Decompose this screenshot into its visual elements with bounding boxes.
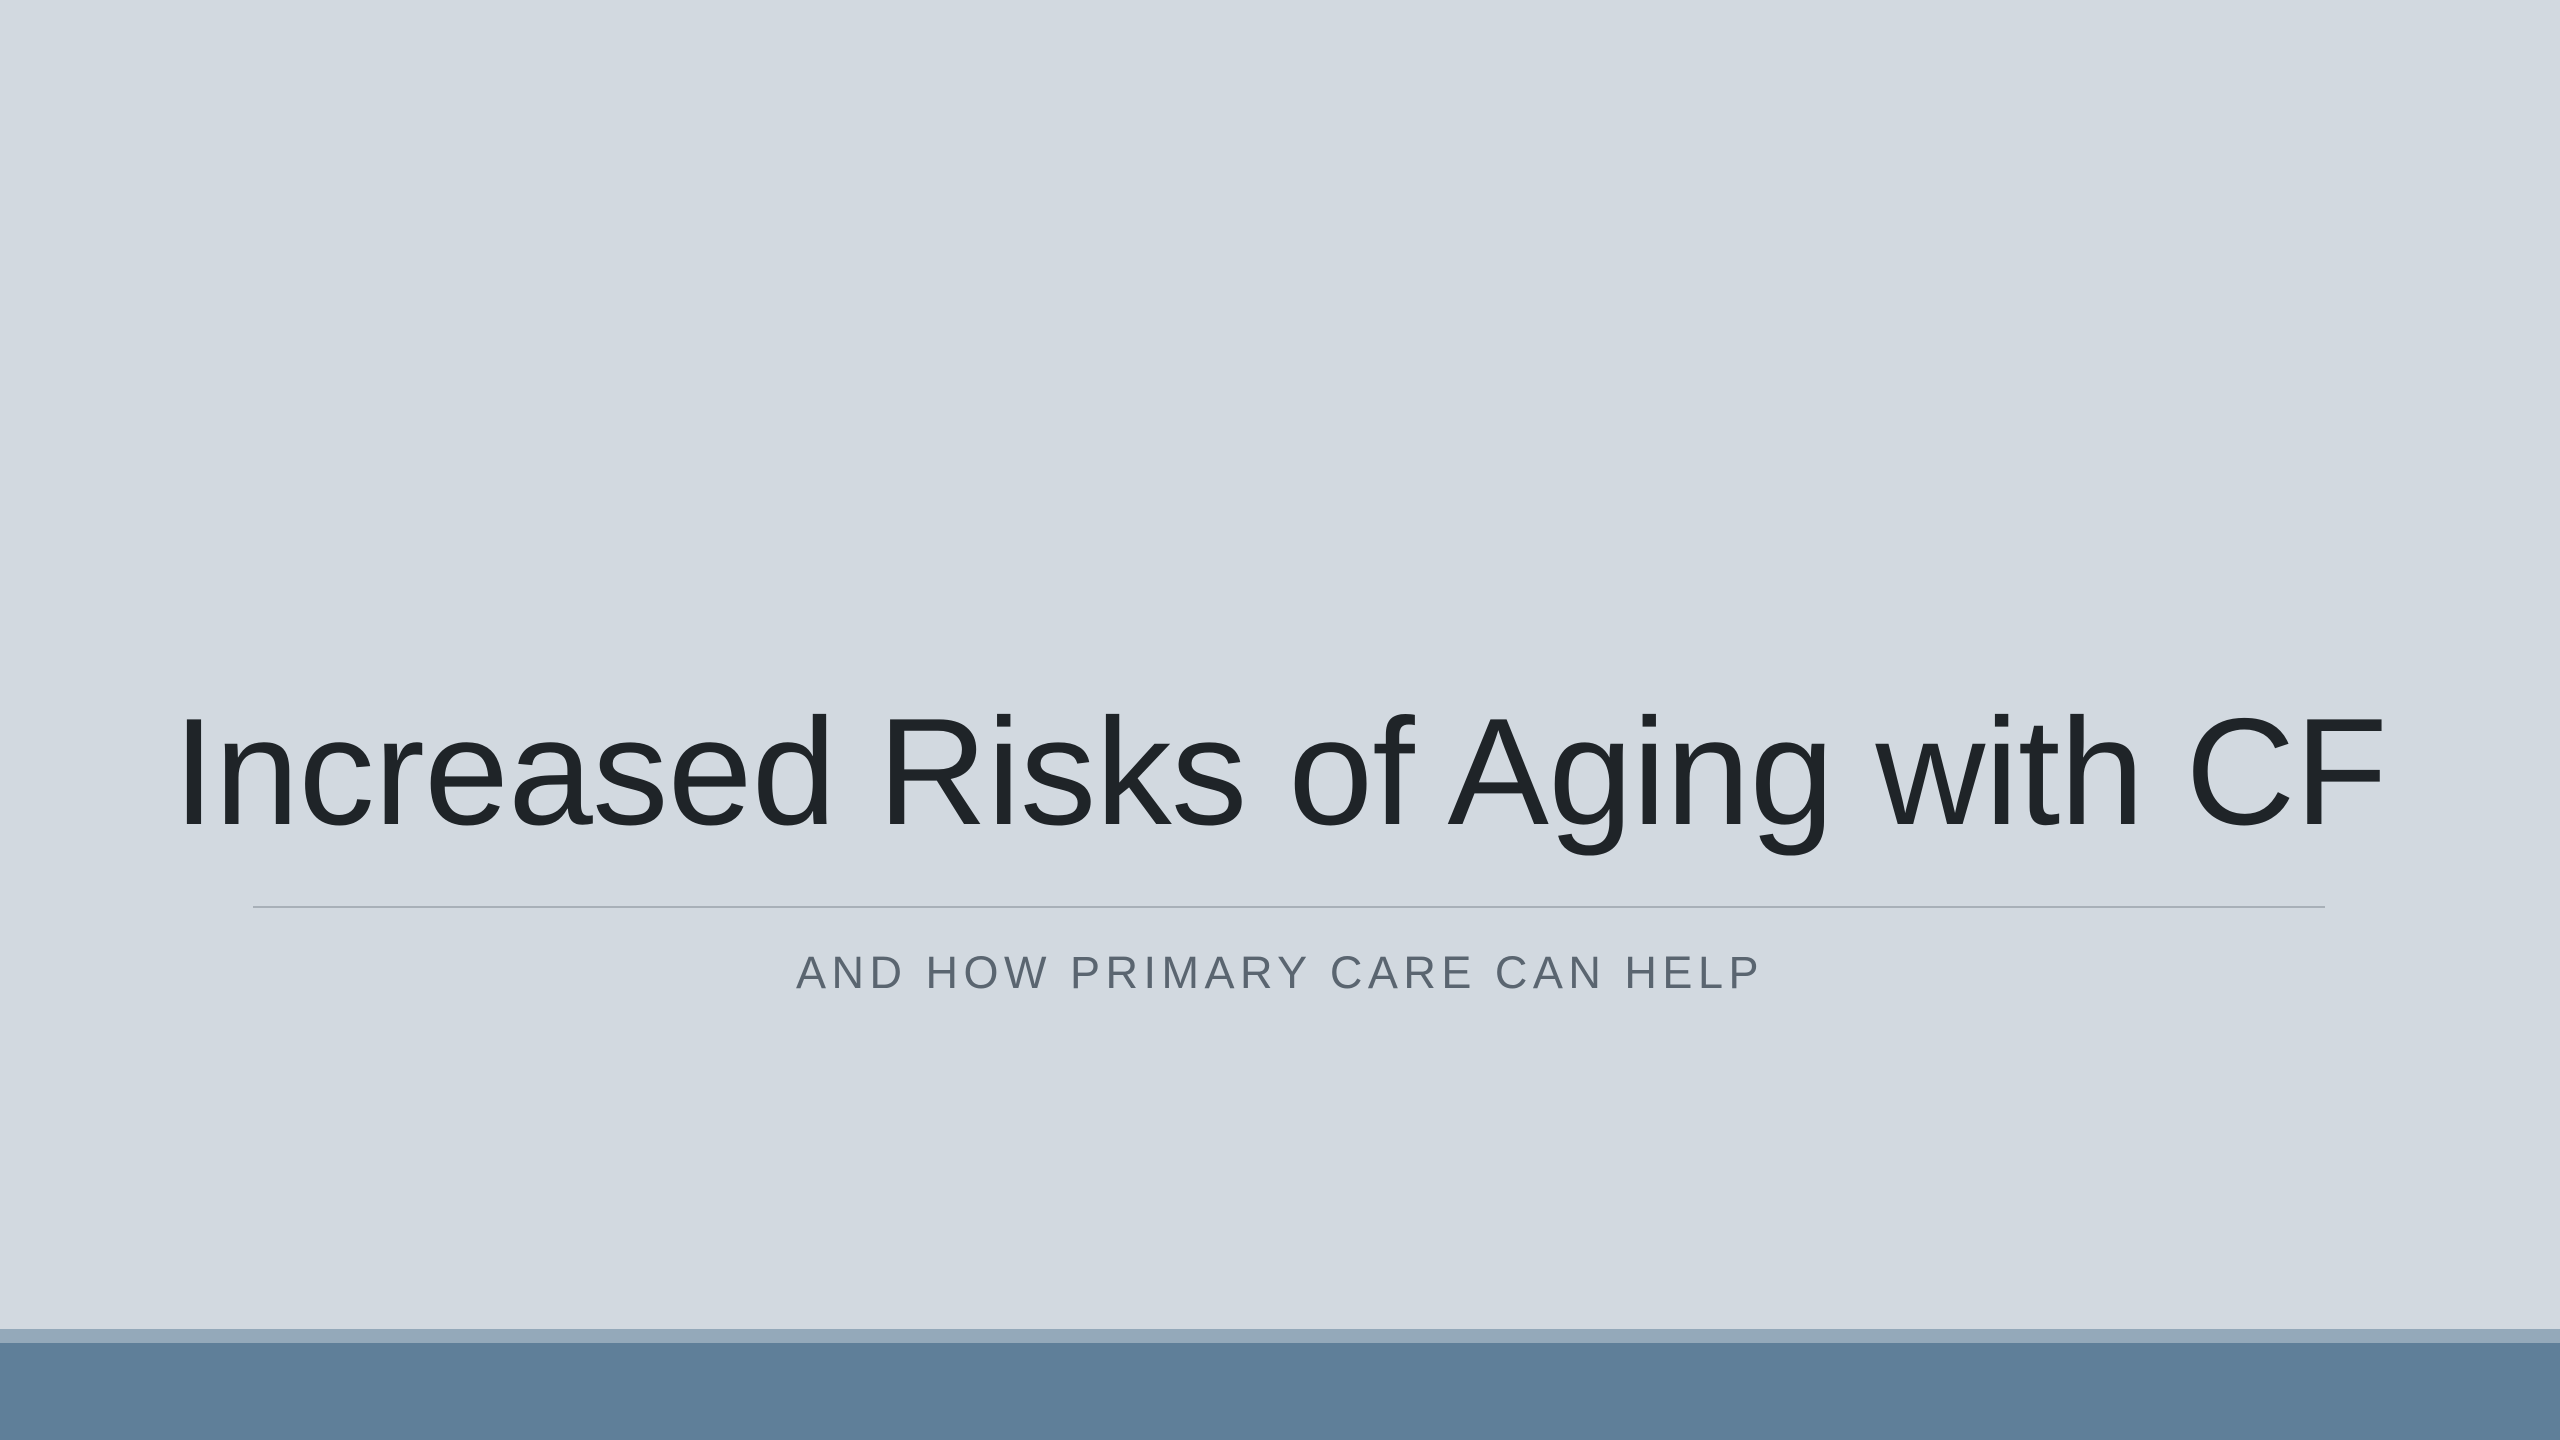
presentation-slide: Increased Risks of Aging with CF AND HOW… (0, 0, 2560, 1440)
title-divider (253, 906, 2325, 908)
accent-bar-dark (0, 1343, 2560, 1440)
page-title: Increased Risks of Aging with CF (0, 690, 2560, 854)
subtitle-block: AND HOW PRIMARY CARE CAN HELP (0, 946, 2560, 1000)
slide-subtitle: AND HOW PRIMARY CARE CAN HELP (0, 946, 2560, 1000)
title-block: Increased Risks of Aging with CF (0, 690, 2560, 854)
accent-bar-light (0, 1329, 2560, 1343)
